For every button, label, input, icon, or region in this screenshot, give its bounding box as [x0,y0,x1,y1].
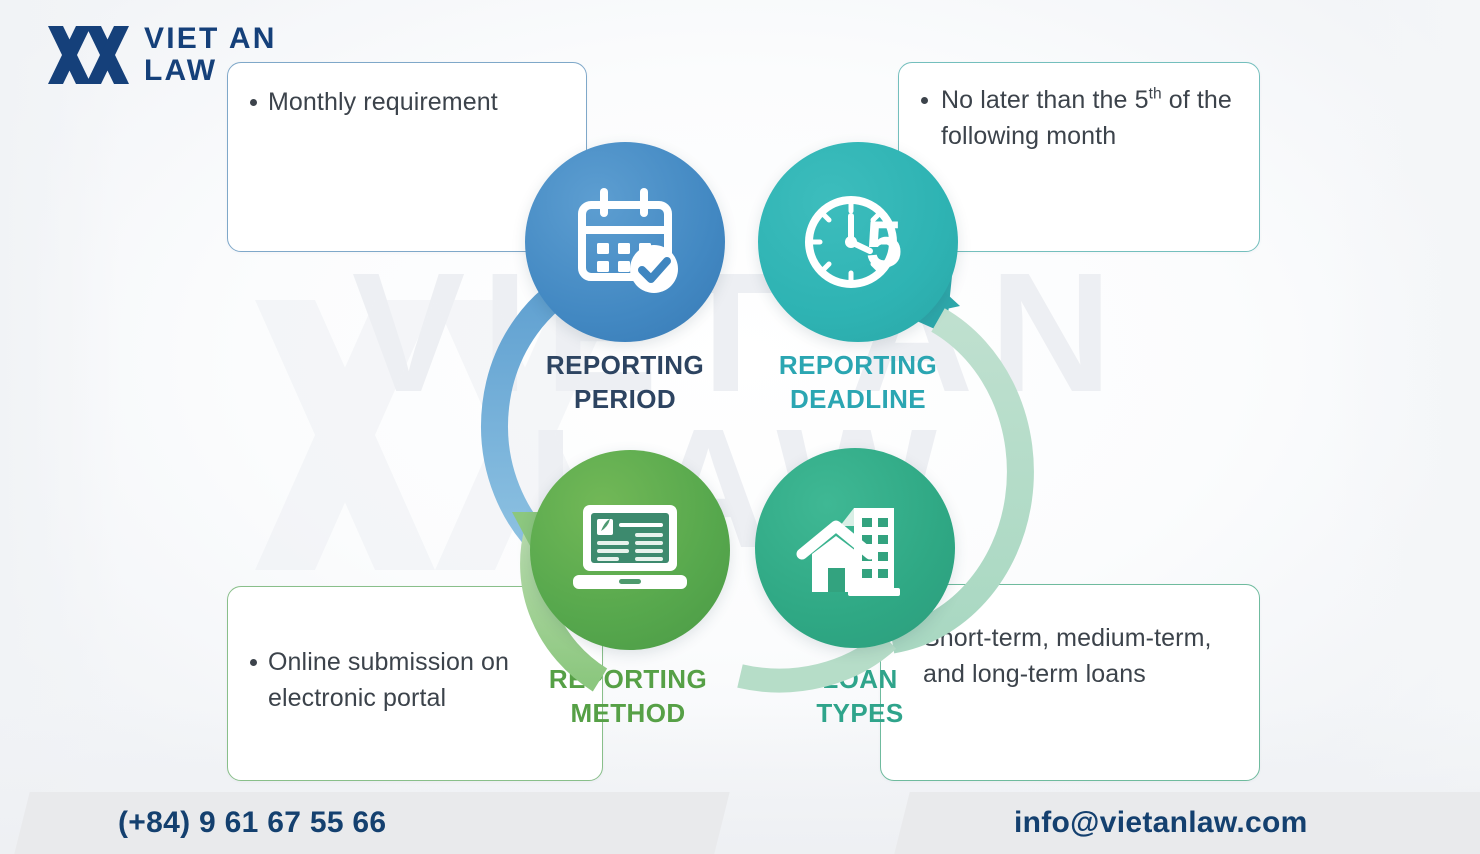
node-circle-loan-types[interactable] [755,448,955,648]
bullet-icon [250,99,257,106]
bullet-icon [250,659,257,666]
laptop-form-icon [567,495,693,605]
brand-logo-line2: LAW [144,54,217,87]
calendar-check-icon [566,183,684,301]
node-circle-reporting-period[interactable] [525,142,725,342]
callout-tr-superscript: th [1149,86,1162,103]
footer-contact-bar: (+84) 9 61 67 55 66 info@vietanlaw.com [0,792,1480,854]
clock-five-icon: 5 [796,183,920,301]
brand-logo-line1: VIET AN [144,22,277,55]
node-circle-reporting-deadline[interactable]: 5 [758,142,958,342]
cycle-hub: 5 [440,120,1040,760]
bullet-icon [921,97,928,104]
deadline-day-number: 5 [866,207,903,281]
viet-an-logo-icon [46,22,130,88]
infographic-root: VIET AN LAW VIET ANLAW Monthly requireme… [0,0,1480,854]
callout-tr-part1: No later than the 5 [941,86,1149,114]
house-building-icon [792,492,918,604]
callout-top-left-text: Monthly requirement [268,85,568,121]
footer-email[interactable]: info@vietanlaw.com [1014,792,1308,854]
footer-phone[interactable]: (+84) 9 61 67 55 66 [118,792,386,854]
node-circle-reporting-method[interactable] [530,450,730,650]
